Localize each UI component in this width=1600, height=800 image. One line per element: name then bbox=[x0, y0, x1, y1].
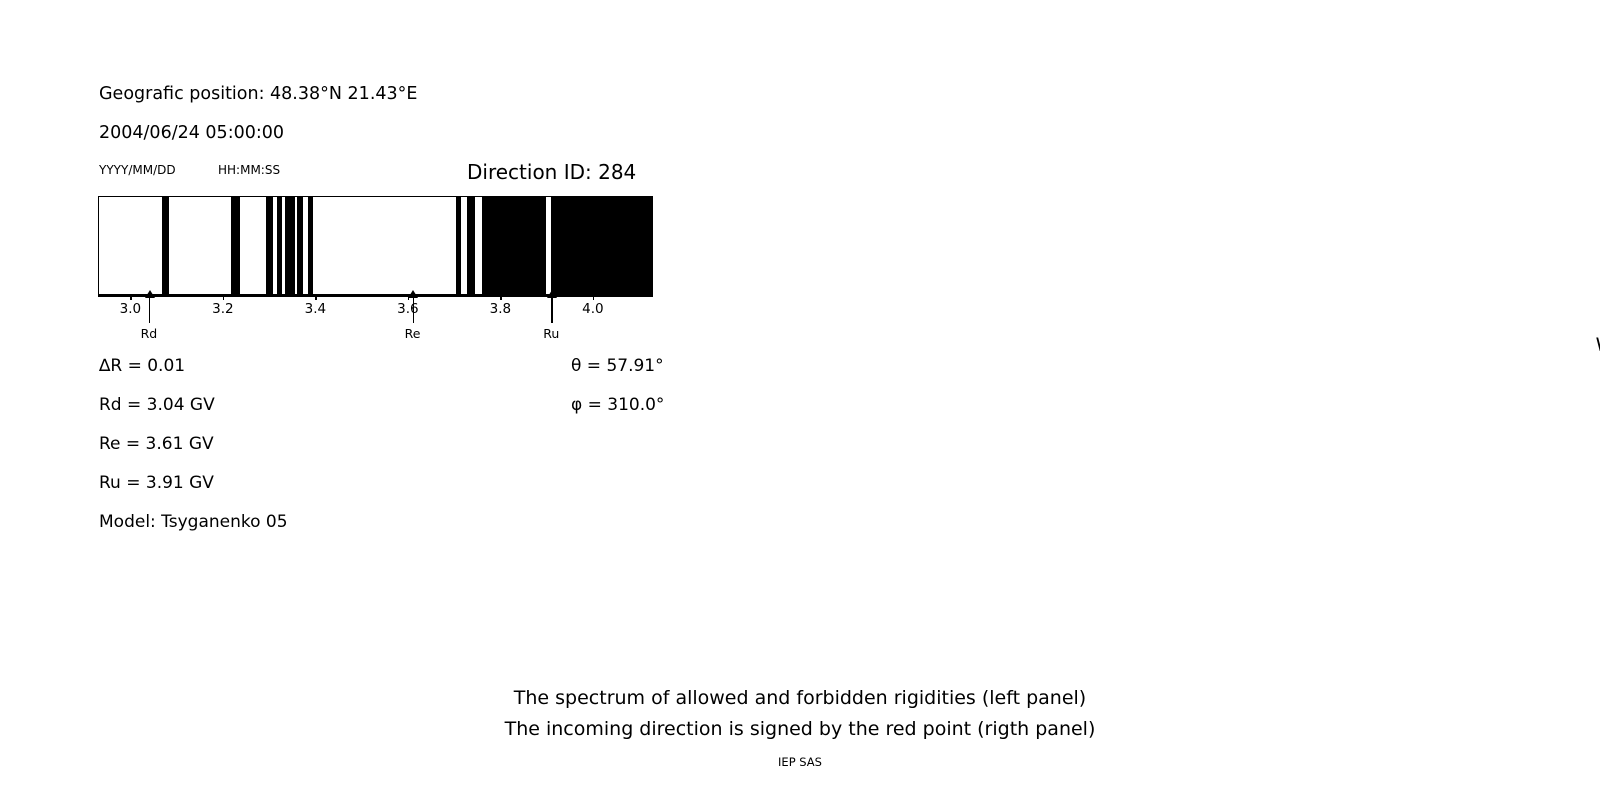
rigidity-spectrum-panel: Geografic position: 48.38°N 21.43°E 2004… bbox=[0, 0, 740, 680]
marker-arrow-ru bbox=[551, 297, 553, 323]
forbidden-band bbox=[482, 197, 546, 294]
asymptotic-direction-panel: −1.00−0.75−0.50−0.250.000.250.500.751.00… bbox=[780, 0, 1600, 680]
spectrum-x-tick: 3.4 bbox=[285, 301, 345, 317]
spectrum-x-tick-mark bbox=[500, 295, 501, 300]
datetime-text: 2004/06/24 05:00:00 bbox=[99, 123, 284, 143]
forbidden-band bbox=[162, 197, 169, 294]
param-ru: Ru = 3.91 GV bbox=[99, 473, 214, 493]
forbidden-band bbox=[285, 197, 294, 294]
marker-arrow-re bbox=[413, 297, 415, 323]
caption-line-1: The spectrum of allowed and forbidden ri… bbox=[0, 687, 1600, 709]
compass-label-west: W bbox=[1585, 334, 1600, 356]
marker-arrowhead-re bbox=[408, 290, 418, 298]
forbidden-band bbox=[266, 197, 273, 294]
param-model: Model: Tsyganenko 05 bbox=[99, 512, 288, 532]
spectrum-x-tick-mark bbox=[130, 295, 131, 300]
param-phi: φ = 310.0° bbox=[571, 395, 664, 415]
date-format-hint: YYYY/MM/DD bbox=[99, 163, 176, 177]
spectrum-x-tick: 4.0 bbox=[563, 301, 623, 317]
forbidden-band bbox=[551, 197, 652, 294]
spectrum-x-tick: 3.0 bbox=[100, 301, 160, 317]
spectrum-x-tick: 3.8 bbox=[470, 301, 530, 317]
spectrum-x-tick-mark bbox=[223, 295, 224, 300]
param-theta: θ = 57.91° bbox=[571, 356, 664, 376]
param-rd: Rd = 3.04 GV bbox=[99, 395, 215, 415]
forbidden-band bbox=[456, 197, 462, 294]
forbidden-band bbox=[308, 197, 314, 294]
geographic-position-text: Geografic position: 48.38°N 21.43°E bbox=[99, 84, 417, 104]
forbidden-band bbox=[467, 197, 475, 294]
time-format-hint: HH:MM:SS bbox=[218, 163, 280, 177]
spectrum-x-tick-mark bbox=[315, 295, 316, 300]
marker-arrowhead-rd bbox=[145, 290, 155, 298]
forbidden-band bbox=[277, 197, 283, 294]
forbidden-band bbox=[297, 197, 303, 294]
marker-label-re: Re bbox=[383, 326, 443, 341]
direction-id-text: Direction ID: 284 bbox=[467, 160, 636, 184]
param-re: Re = 3.61 GV bbox=[99, 434, 214, 454]
marker-label-rd: Rd bbox=[119, 326, 179, 341]
footer-text: IEP SAS bbox=[0, 755, 1600, 769]
spectrum-x-tick: 3.6 bbox=[378, 301, 438, 317]
spectrum-x-tick-mark bbox=[593, 295, 594, 300]
param-delta-r: ∆R = 0.01 bbox=[99, 356, 185, 376]
spectrum-axis-line bbox=[98, 295, 653, 297]
forbidden-band bbox=[231, 197, 240, 294]
marker-arrow-rd bbox=[149, 297, 151, 323]
spectrum-x-tick: 3.2 bbox=[193, 301, 253, 317]
rigidity-spectrum-bar bbox=[98, 196, 653, 295]
marker-arrowhead-ru bbox=[547, 290, 557, 298]
marker-label-ru: Ru bbox=[521, 326, 581, 341]
caption-line-2: The incoming direction is signed by the … bbox=[0, 718, 1600, 740]
